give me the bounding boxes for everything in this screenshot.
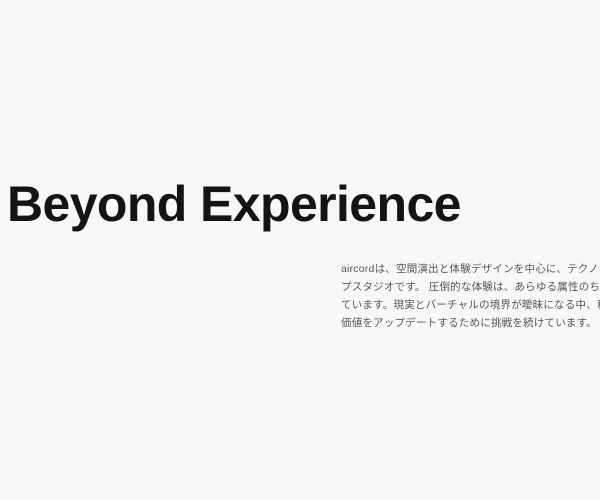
hero-description: aircordは、空間演出と体験デザインを中心に、テクノロジーを用い プスタジオ…	[341, 260, 600, 332]
hero-description-line: 価値をアップデートするために挑戦を続けています。	[341, 314, 600, 332]
page-root: Beyond Experience aircordは、空間演出と体験デザインを中…	[0, 0, 600, 500]
hero-description-line: ています。現実とバーチャルの境界が曖昧になる中、私達はリア	[341, 296, 600, 314]
hero-description-line: プスタジオです。 圧倒的な体験は、あらゆる属性のちがいを超え	[341, 278, 600, 296]
hero-description-line: aircordは、空間演出と体験デザインを中心に、テクノロジーを用い	[341, 260, 600, 278]
hero-section: Beyond Experience aircordは、空間演出と体験デザインを中…	[0, 0, 600, 500]
page-title: Beyond Experience	[7, 175, 461, 233]
